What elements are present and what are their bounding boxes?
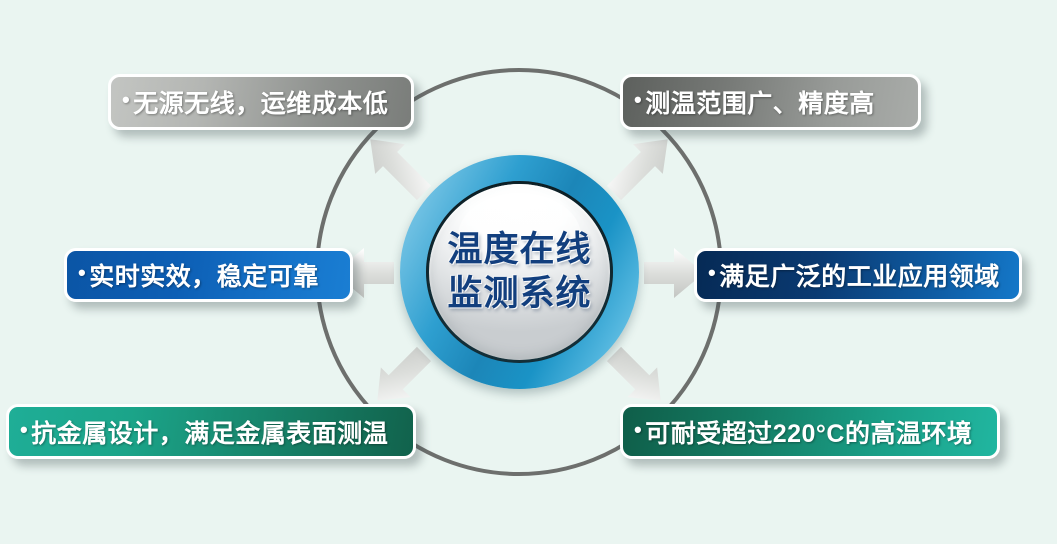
feature-label-text: 抗金属设计，满足金属表面测温: [31, 414, 388, 450]
hub-face: 温度在线 监测系统: [429, 184, 610, 360]
feature-label-text: 满足广泛的工业应用领域: [719, 257, 1000, 293]
feature-label-text: 实时实效，稳定可靠: [89, 257, 319, 293]
bullet-icon: •: [122, 89, 130, 111]
feature-label-top-right[interactable]: • 测温范围广、精度高: [620, 74, 921, 130]
feature-label-text: 可耐受超过220°C的高温环境: [645, 414, 972, 450]
bullet-icon: •: [634, 89, 642, 111]
bullet-icon: •: [20, 419, 28, 441]
bullet-icon: •: [708, 262, 716, 284]
hub-title-line-1: 温度在线: [447, 228, 591, 272]
bullet-icon: •: [634, 419, 642, 441]
center-hub: 温度在线 监测系统: [400, 155, 639, 389]
diagram-canvas: 温度在线 监测系统 • 无源无线，运维成本低 • 测温范围广、精度高 • 实时实…: [0, 0, 1057, 544]
feature-label-top-left[interactable]: • 无源无线，运维成本低: [108, 74, 414, 130]
feature-label-bottom-right[interactable]: • 可耐受超过220°C的高温环境: [620, 404, 1000, 459]
feature-label-text: 测温范围广、精度高: [645, 84, 875, 120]
feature-label-middle-left[interactable]: • 实时实效，稳定可靠: [64, 248, 353, 302]
bullet-icon: •: [78, 262, 86, 284]
feature-label-text: 无源无线，运维成本低: [133, 84, 388, 120]
hub-title-line-2: 监测系统: [447, 272, 591, 316]
feature-label-middle-right[interactable]: • 满足广泛的工业应用领域: [694, 248, 1022, 302]
feature-label-bottom-left[interactable]: • 抗金属设计，满足金属表面测温: [6, 404, 416, 459]
